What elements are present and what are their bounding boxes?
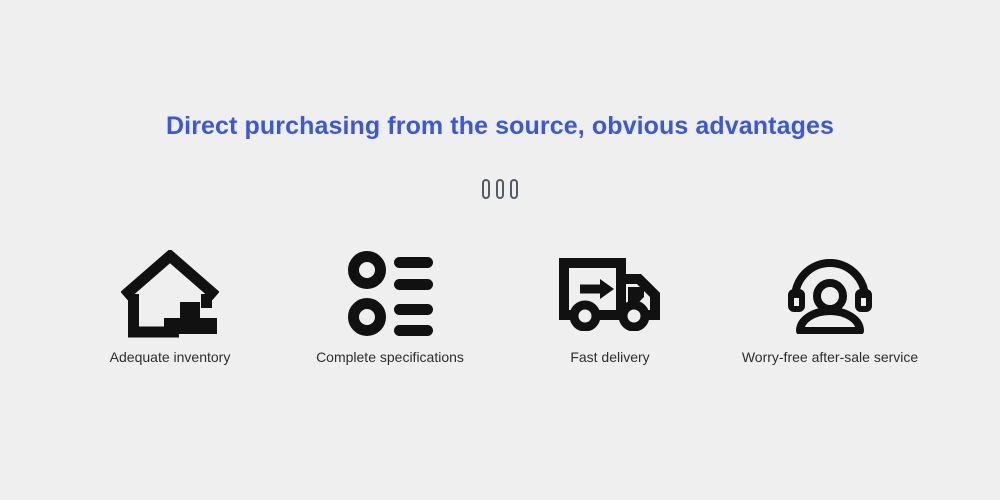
page-title: Direct purchasing from the source, obvio… [0,112,1000,141]
specification-list-icon [347,248,433,340]
feature-label-specifications: Complete specifications [316,348,464,366]
three-pill-divider [0,179,1000,199]
feature-item-delivery: Fast delivery [500,248,720,366]
feature-label-delivery: Fast delivery [570,348,649,366]
promo-banner: Direct purchasing from the source, obvio… [0,0,1000,500]
feature-label-inventory: Adequate inventory [110,348,231,366]
warehouse-house-icon [121,248,219,340]
delivery-truck-icon [558,248,662,340]
feature-item-inventory: Adequate inventory [60,248,280,366]
divider-pill-1 [482,179,490,199]
feature-item-after-sale-service: Worry-free after-sale service [720,248,940,366]
feature-list: Adequate inventory Complete specificatio… [60,248,940,366]
divider-pill-3 [510,179,518,199]
feature-label-after-sale-service: Worry-free after-sale service [742,348,918,366]
feature-item-specifications: Complete specifications [280,248,500,366]
headset-support-agent-icon [787,248,873,340]
divider-pill-2 [496,179,504,199]
